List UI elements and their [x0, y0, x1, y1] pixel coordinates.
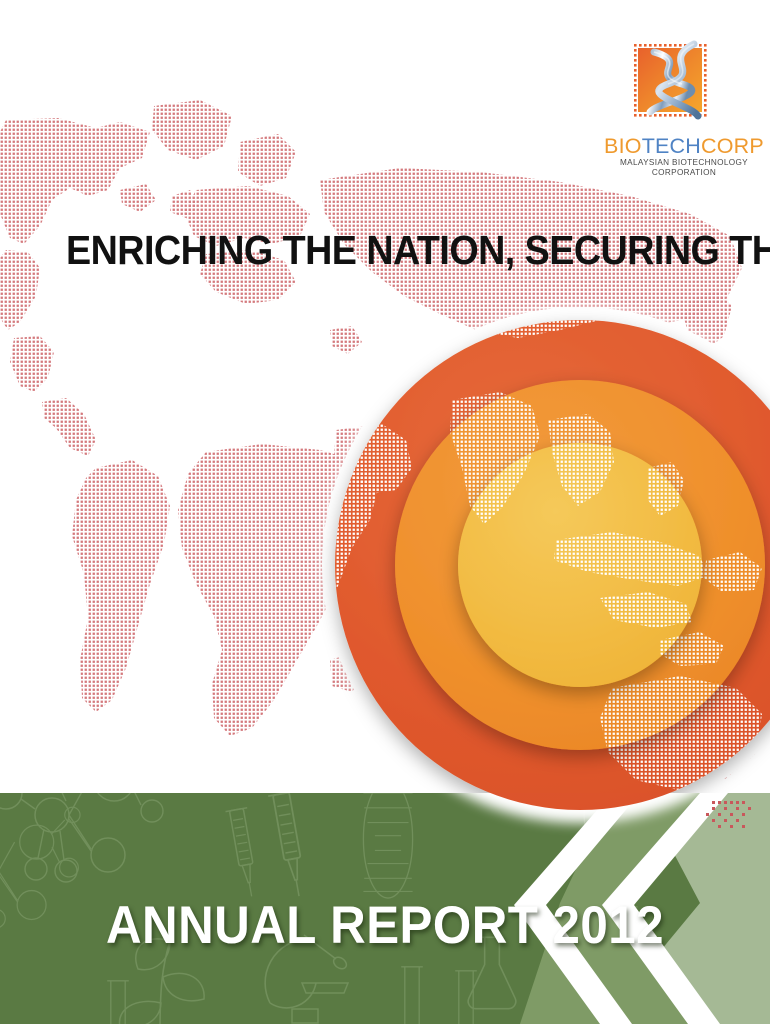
test-tube-icon: [401, 967, 423, 1024]
molecule-icon: [0, 793, 165, 882]
dna-helix-icon: [363, 793, 412, 898]
annual-report-cover: ENRICHING THE NATION, SECURING THE FUTUR…: [0, 0, 770, 1024]
logo-wordmark-bio: BIO: [604, 134, 642, 158]
syringe-icon: [226, 808, 263, 898]
dna-helix-logo-icon: [628, 38, 722, 130]
logo-wordmark-corp: CORP: [701, 134, 764, 158]
logo-subtitle-line1: MALAYSIAN BIOTECHNOLOGY: [600, 158, 768, 168]
logo-subtitle-line2: CORPORATION: [600, 168, 768, 178]
cover-headline: ENRICHING THE NATION, SECURING THE FUTUR…: [66, 228, 673, 272]
biotechcorp-logo[interactable]: BIOTECHCORP MALAYSIAN BIOTECHNOLOGY CORP…: [600, 38, 768, 186]
report-title: ANNUAL REPORT 2012: [27, 898, 743, 954]
test-tube-icon: [107, 981, 129, 1024]
test-tube-icon: [455, 971, 477, 1024]
logo-wordmark: BIOTECHCORP: [600, 134, 768, 159]
syringe-icon: [268, 793, 312, 898]
logo-wordmark-tech: TECH: [642, 134, 701, 158]
logo-subtitle: MALAYSIAN BIOTECHNOLOGY CORPORATION: [600, 158, 768, 178]
